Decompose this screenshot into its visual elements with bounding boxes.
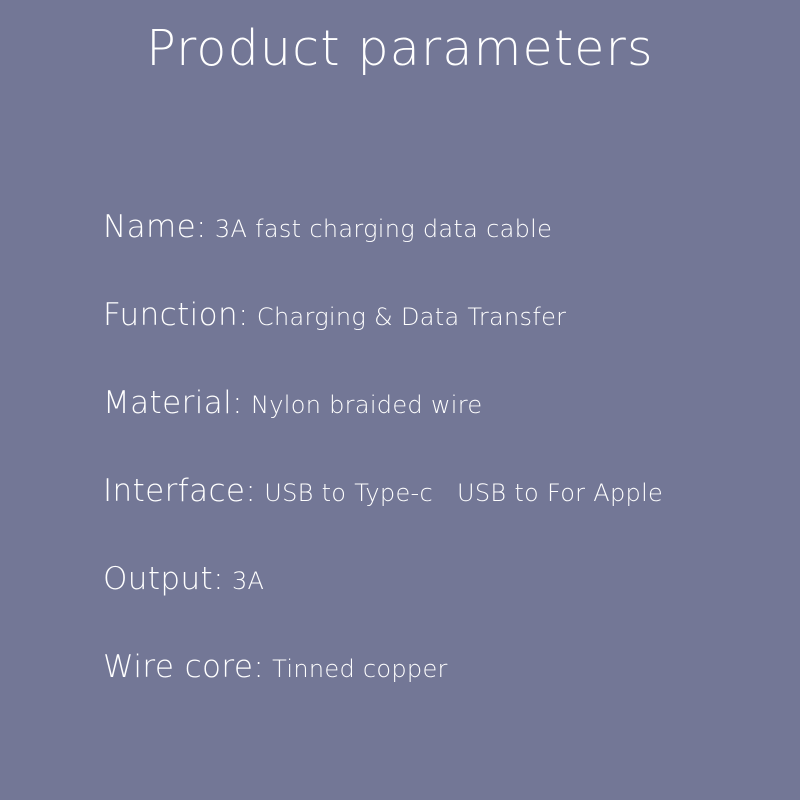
spec-row-wire-core: Wire core: Tinned copper bbox=[103, 652, 763, 740]
spec-value-group: Tinned copper bbox=[272, 657, 448, 681]
spec-value-group: Nylon braided wire bbox=[251, 393, 483, 417]
spec-label: Output: bbox=[103, 564, 224, 595]
spec-label: Name: bbox=[103, 212, 207, 243]
page-title: Product parameters bbox=[0, 21, 800, 77]
spec-row-output: Output: 3A bbox=[103, 564, 763, 652]
spec-value: Nylon braided wire bbox=[251, 393, 483, 417]
spec-value: Charging & Data Transfer bbox=[257, 305, 566, 329]
spec-row-material: Material: Nylon braided wire bbox=[103, 388, 763, 476]
spec-value-group: Charging & Data Transfer bbox=[257, 305, 566, 329]
spec-value: USB to For Apple bbox=[457, 481, 663, 505]
spec-value: 3A bbox=[232, 569, 264, 593]
spec-label: Interface: bbox=[103, 476, 256, 507]
spec-value: 3A fast charging data cable bbox=[215, 217, 552, 241]
spec-list: Name: 3A fast charging data cable Functi… bbox=[103, 212, 763, 740]
spec-label: Function: bbox=[103, 300, 249, 331]
spec-value-group: 3A bbox=[232, 569, 264, 593]
spec-row-name: Name: 3A fast charging data cable bbox=[103, 212, 763, 300]
product-parameters-poster: Product parameters Name: 3A fast chargin… bbox=[0, 0, 800, 800]
spec-value: Tinned copper bbox=[272, 657, 448, 681]
spec-row-function: Function: Charging & Data Transfer bbox=[103, 300, 763, 388]
spec-value-group: USB to Type-c USB to For Apple bbox=[264, 481, 663, 505]
spec-label: Material: bbox=[103, 388, 243, 419]
spec-row-interface: Interface: USB to Type-c USB to For Appl… bbox=[103, 476, 763, 564]
spec-value-group: 3A fast charging data cable bbox=[215, 217, 552, 241]
spec-label: Wire core: bbox=[103, 652, 264, 683]
spec-value: USB to Type-c bbox=[264, 481, 433, 505]
